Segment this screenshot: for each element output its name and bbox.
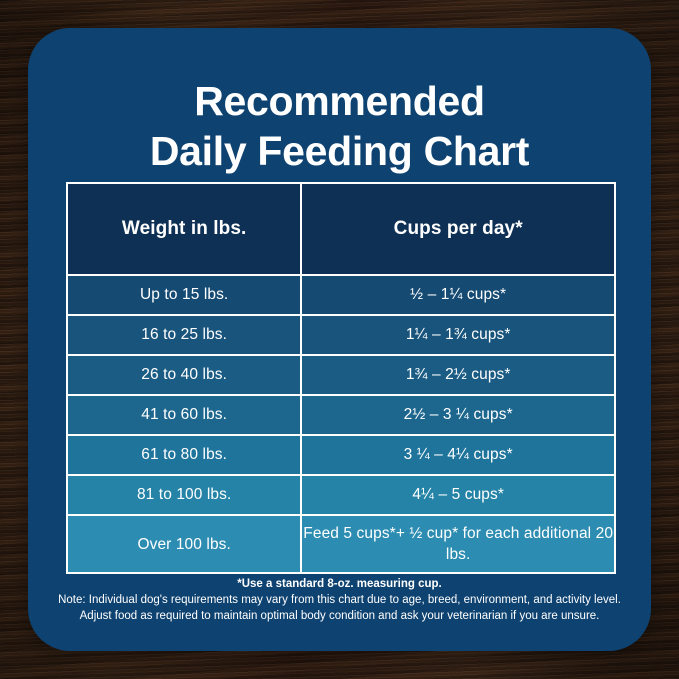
cell-cups: 1¾ – 2½ cups* <box>302 356 614 396</box>
cell-weight: Up to 15 lbs. <box>68 276 302 316</box>
cell-weight: 16 to 25 lbs. <box>68 316 302 356</box>
cell-weight: 81 to 100 lbs. <box>68 476 302 516</box>
column-header-cups: Cups per day* <box>302 184 614 276</box>
feeding-table: Weight in lbs. Cups per day* Up to 15 lb… <box>66 182 616 574</box>
cell-weight: 26 to 40 lbs. <box>68 356 302 396</box>
page-title: Recommended Daily Feeding Chart <box>28 28 651 176</box>
table-row: Up to 15 lbs. ½ – 1¼ cups* <box>68 276 614 316</box>
cell-weight: 61 to 80 lbs. <box>68 436 302 476</box>
title-line-2: Daily Feeding Chart <box>28 126 651 176</box>
cell-cups: 4¼ – 5 cups* <box>302 476 614 516</box>
cell-cups: 1¼ – 1¾ cups* <box>302 316 614 356</box>
title-line-1: Recommended <box>28 76 651 126</box>
feeding-chart-card: Recommended Daily Feeding Chart Weight i… <box>28 28 651 651</box>
table-header-row: Weight in lbs. Cups per day* <box>68 184 614 276</box>
column-header-weight: Weight in lbs. <box>68 184 302 276</box>
table-row: 41 to 60 lbs. 2½ – 3 ¼ cups* <box>68 396 614 436</box>
footnote-measuring-cup: *Use a standard 8-oz. measuring cup. <box>52 576 627 592</box>
footnotes: *Use a standard 8-oz. measuring cup. Not… <box>52 576 627 624</box>
table-row: Over 100 lbs. Feed 5 cups*+ ½ cup* for e… <box>68 516 614 572</box>
cell-cups: 2½ – 3 ¼ cups* <box>302 396 614 436</box>
table-row: 61 to 80 lbs. 3 ¼ – 4¼ cups* <box>68 436 614 476</box>
table-row: 16 to 25 lbs. 1¼ – 1¾ cups* <box>68 316 614 356</box>
table-row: 26 to 40 lbs. 1¾ – 2½ cups* <box>68 356 614 396</box>
cell-cups: Feed 5 cups*+ ½ cup* for each additional… <box>302 516 614 572</box>
cell-cups: 3 ¼ – 4¼ cups* <box>302 436 614 476</box>
cell-cups: ½ – 1¼ cups* <box>302 276 614 316</box>
table-row: 81 to 100 lbs. 4¼ – 5 cups* <box>68 476 614 516</box>
table-header: Weight in lbs. Cups per day* <box>68 184 614 276</box>
table-body: Up to 15 lbs. ½ – 1¼ cups* 16 to 25 lbs.… <box>68 276 614 572</box>
cell-weight: Over 100 lbs. <box>68 516 302 572</box>
footnote-adjust: Adjust food as required to maintain opti… <box>52 608 627 624</box>
footnote-note: Note: Individual dog's requirements may … <box>52 592 627 608</box>
cell-weight: 41 to 60 lbs. <box>68 396 302 436</box>
